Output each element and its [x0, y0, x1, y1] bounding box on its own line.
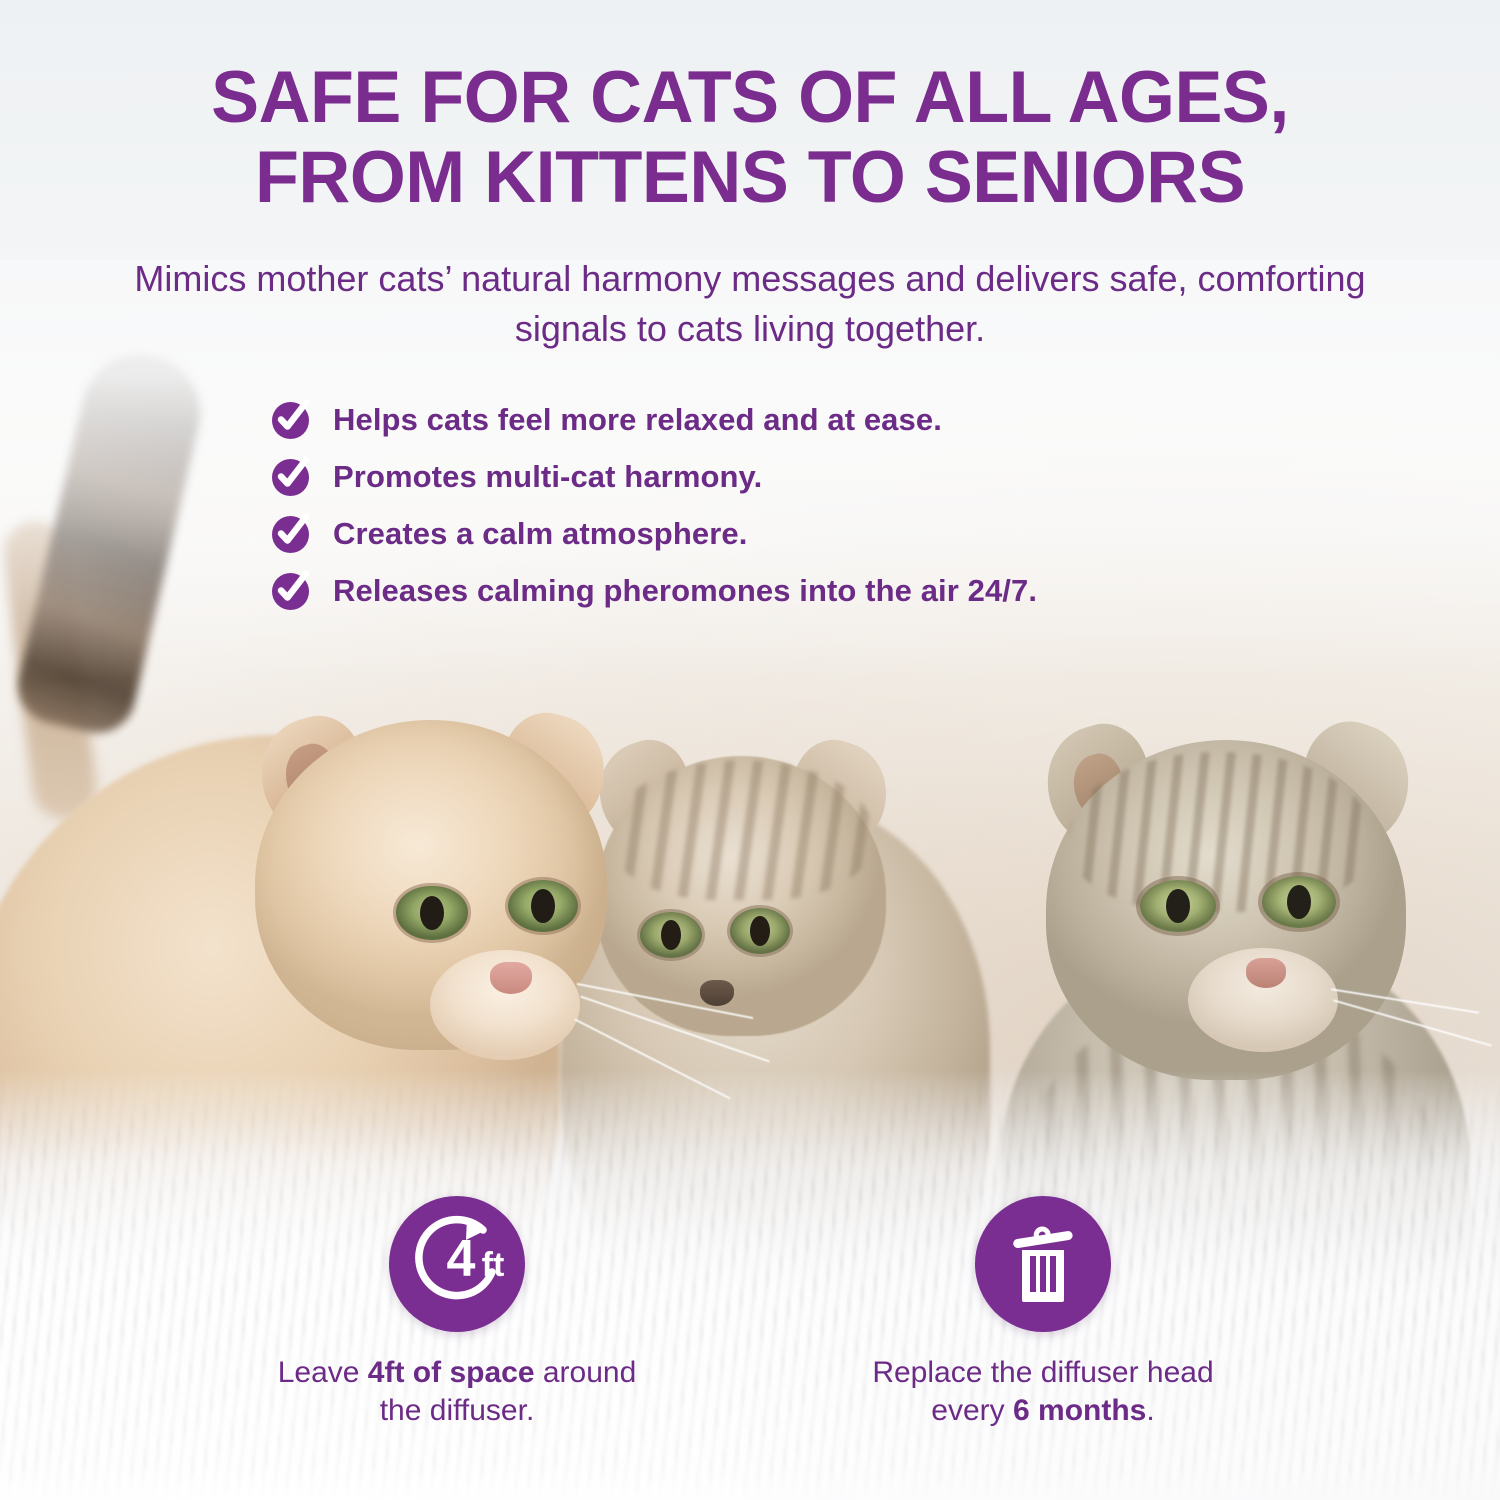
page-title: SAFE FOR CATS OF ALL AGES, FROM KITTENS … [11, 58, 1489, 217]
check-circle-icon [272, 516, 309, 553]
list-item: Releases calming pheromones into the air… [272, 571, 1172, 611]
list-item-label: Creates a calm atmosphere. [333, 516, 747, 552]
product-feature-poster: SAFE FOR CATS OF ALL AGES, FROM KITTENS … [0, 0, 1500, 1500]
trash-icon [975, 1196, 1111, 1332]
check-circle-icon [272, 573, 309, 610]
caption-bold: 6 months [1013, 1394, 1146, 1427]
badge-label: 4 [447, 1230, 476, 1288]
headline-line-1: SAFE FOR CATS OF ALL AGES, [211, 57, 1289, 138]
list-item-label: Helps cats feel more relaxed and at ease… [333, 402, 942, 438]
subtitle-line-1: Mimics mother cats’ natural harmony mess… [134, 258, 1187, 299]
check-circle-icon [272, 402, 309, 439]
tip-replace-caption: Replace the diffuser head every 6 months… [843, 1354, 1243, 1430]
svg-text:ft: ft [482, 1246, 505, 1284]
list-item-label: Releases calming pheromones into the air… [333, 573, 1037, 609]
tip-distance-caption: Leave 4ft of space around the diffuser. [257, 1354, 657, 1430]
tip-replace: Replace the diffuser head every 6 months… [843, 1196, 1243, 1430]
subtitle: Mimics mother cats’ natural harmony mess… [120, 254, 1380, 353]
rotate-distance-icon: 4 ft [389, 1196, 525, 1332]
check-circle-icon [272, 459, 309, 496]
list-item: Promotes multi-cat harmony. [272, 457, 1172, 497]
benefits-list: Helps cats feel more relaxed and at ease… [272, 400, 1172, 628]
list-item: Creates a calm atmosphere. [272, 514, 1172, 554]
usage-tips: 4 ft Leave 4ft of space around the diffu… [0, 1196, 1500, 1430]
list-item-label: Promotes multi-cat harmony. [333, 459, 762, 495]
list-item: Helps cats feel more relaxed and at ease… [272, 400, 1172, 440]
tip-distance: 4 ft Leave 4ft of space around the diffu… [257, 1196, 657, 1430]
caption-part: . [1146, 1394, 1154, 1427]
caption-bold: 4ft of space [368, 1356, 535, 1389]
headline-line-2: FROM KITTENS TO SENIORS [11, 138, 1489, 218]
caption-part: Leave [278, 1356, 368, 1389]
